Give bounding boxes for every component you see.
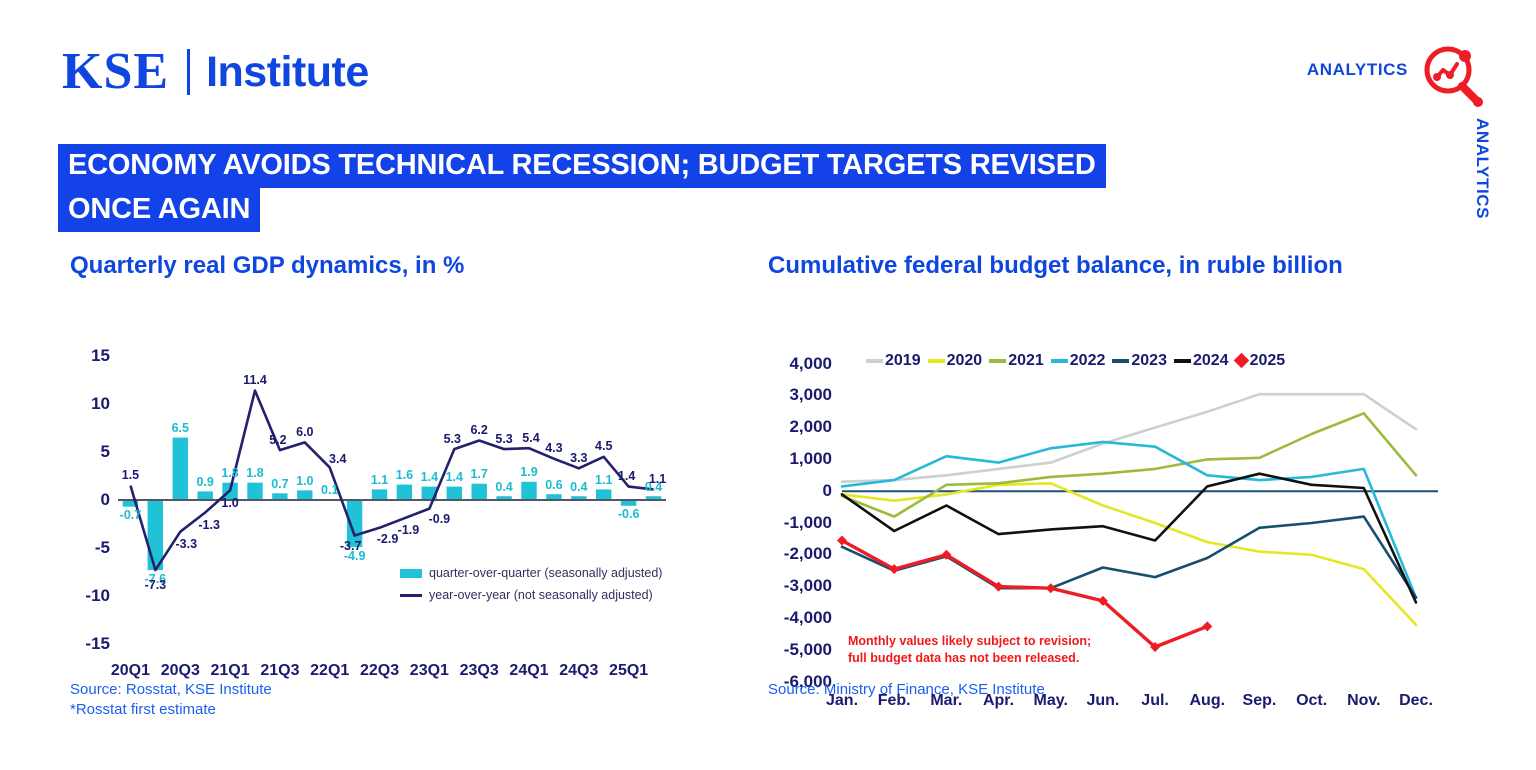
logo-kse-text: KSE: [62, 46, 169, 98]
gdp-yoy-value-label: 4.3: [545, 441, 562, 455]
left-y-tick: -15: [70, 634, 110, 654]
legend-swatch: [400, 594, 422, 597]
left-x-tick: 21Q3: [260, 662, 299, 680]
left-y-tick: 15: [70, 346, 110, 366]
gdp-bar-value-label: 0.7: [271, 477, 288, 491]
legend-swatch: [1051, 359, 1068, 363]
gdp-yoy-value-label: 1.0: [221, 496, 238, 510]
right-x-tick: Nov.: [1347, 692, 1380, 710]
gdp-bar-value-label: 1.1: [595, 473, 612, 487]
legend-item-2024[interactable]: 2024: [1174, 352, 1229, 370]
right-y-tick: -1,000: [768, 513, 832, 533]
left-x-tick: 24Q1: [509, 662, 548, 680]
right-chart-legend: 2019202020212022202320242025: [866, 352, 1292, 370]
gdp-bar-value-label: -0.6: [618, 507, 640, 521]
gdp-bar-value-label: 0.1: [321, 483, 338, 497]
legend-item-2023[interactable]: 2023: [1112, 352, 1167, 370]
legend-diamond-marker: [1233, 353, 1249, 369]
right-x-tick: Jul.: [1141, 692, 1169, 710]
headline-line-1: ECONOMY AVOIDS TECHNICAL RECESSION; BUDG…: [58, 144, 1106, 188]
legend-swatch: [1174, 359, 1191, 363]
gdp-yoy-value-label: -3.3: [175, 537, 197, 551]
right-y-tick: 4,000: [768, 354, 832, 374]
gdp-bar: [198, 491, 213, 500]
legend-swatch: [989, 359, 1006, 363]
right-chart-source: Source: Ministry of Finance, KSE Institu…: [768, 680, 1045, 700]
legend-item-2022[interactable]: 2022: [1051, 352, 1106, 370]
gdp-bar-value-label: 1.0: [296, 474, 313, 488]
budget-line-2019: [842, 394, 1416, 482]
gdp-yoy-value-label: -2.9: [377, 532, 399, 546]
right-y-tick: 1,000: [768, 449, 832, 469]
gdp-yoy-value-label: -1.9: [398, 523, 420, 537]
magnifier-chart-icon: [1416, 44, 1488, 108]
gdp-bar-value-label: 1.8: [246, 466, 263, 480]
gdp-yoy-value-label: 6.0: [296, 425, 313, 439]
gdp-bar: [173, 437, 188, 499]
right-y-tick: -4,000: [768, 608, 832, 628]
gdp-yoy-value-label: 6.2: [470, 423, 487, 437]
right-x-tick: Aug.: [1189, 692, 1225, 710]
left-x-tick: 22Q1: [310, 662, 349, 680]
legend-item-2025[interactable]: 2025: [1236, 352, 1286, 370]
gdp-bar-value-label: 0.4: [570, 480, 587, 494]
legend-swatch: [866, 359, 883, 363]
left-x-tick: 20Q1: [111, 662, 150, 680]
legend-swatch: [1112, 359, 1129, 363]
gdp-bar-value-label: 6.5: [172, 421, 189, 435]
gdp-bar-value-label: 1.6: [396, 468, 413, 482]
gdp-bar-value-label: 1.4: [446, 470, 463, 484]
gdp-bar: [447, 486, 462, 499]
revision-note: Monthly values likely subject to revisio…: [848, 633, 1091, 667]
legend-label: year-over-year (not seasonally adjusted): [429, 588, 653, 602]
right-y-tick: -3,000: [768, 576, 832, 596]
left-legend-item: quarter-over-quarter (seasonally adjuste…: [400, 566, 662, 580]
left-legend-item: year-over-year (not seasonally adjusted): [400, 588, 653, 602]
gdp-bar-value-label: 1.8: [221, 466, 238, 480]
legend-swatch: [928, 359, 945, 363]
gdp-yoy-value-label: -7.3: [145, 578, 167, 592]
right-chart-panel: Cumulative federal budget balance, in ru…: [768, 252, 1468, 694]
left-chart-source: Source: Rosstat, KSE Institute *Rosstat …: [70, 680, 272, 721]
legend-label: quarter-over-quarter (seasonally adjuste…: [429, 566, 662, 580]
gdp-yoy-value-label: -1.3: [198, 518, 220, 532]
gdp-yoy-value-label: -0.9: [429, 512, 451, 526]
gdp-bar: [596, 489, 611, 500]
headline-line-2: ONCE AGAIN: [58, 188, 260, 232]
left-x-tick: 21Q1: [211, 662, 250, 680]
gdp-bar: [472, 483, 487, 499]
gdp-bar: [272, 493, 287, 500]
left-y-tick: -5: [70, 538, 110, 558]
left-chart-panel: Quarterly real GDP dynamics, in % 151050…: [70, 252, 730, 694]
legend-label: 2023: [1131, 352, 1167, 370]
gdp-bar: [521, 481, 536, 499]
gdp-bar: [372, 489, 387, 500]
right-y-tick: -5,000: [768, 640, 832, 660]
right-y-tick: -2,000: [768, 544, 832, 564]
gdp-yoy-value-label: 1.5: [122, 468, 139, 482]
budget-marker-diamond: [1046, 583, 1056, 593]
gdp-bar-value-label: 0.6: [545, 478, 562, 492]
gdp-bar: [247, 482, 262, 499]
left-x-tick: 23Q1: [410, 662, 449, 680]
gdp-bar-value-label: 1.1: [371, 473, 388, 487]
right-y-tick: 0: [768, 481, 832, 501]
left-x-tick: 24Q3: [559, 662, 598, 680]
gdp-bar-value-label: 0.9: [196, 475, 213, 489]
left-y-tick: 10: [70, 394, 110, 414]
legend-item-2021[interactable]: 2021: [989, 352, 1044, 370]
left-x-tick: 22Q3: [360, 662, 399, 680]
legend-item-2019[interactable]: 2019: [866, 352, 921, 370]
gdp-bar: [397, 484, 412, 499]
logo-institute-text: Institute: [206, 51, 369, 94]
right-x-tick: Sep.: [1243, 692, 1277, 710]
gdp-yoy-value-label: 5.3: [495, 432, 512, 446]
legend-label: 2022: [1070, 352, 1106, 370]
gdp-bar-value-label: 0.4: [495, 480, 512, 494]
left-y-tick: 5: [70, 442, 110, 462]
legend-label: 2025: [1250, 352, 1286, 370]
analytics-vertical-label: ANALYTICS: [1472, 118, 1492, 219]
left-chart-title: Quarterly real GDP dynamics, in %: [70, 252, 730, 280]
left-x-tick: 25Q1: [609, 662, 648, 680]
gdp-yoy-value-label: 5.4: [522, 431, 539, 445]
logo-divider: [187, 49, 190, 95]
right-x-tick: Jun.: [1086, 692, 1119, 710]
gdp-yoy-value-label: -3.7: [340, 539, 362, 553]
left-x-tick: 20Q3: [161, 662, 200, 680]
left-y-tick: 0: [70, 490, 110, 510]
gdp-yoy-value-label: 5.2: [269, 433, 286, 447]
right-chart-title: Cumulative federal budget balance, in ru…: [768, 252, 1468, 280]
legend-label: 2021: [1008, 352, 1044, 370]
kse-institute-logo: KSE Institute: [62, 46, 369, 98]
gdp-yoy-value-label: 3.3: [570, 451, 587, 465]
analytics-label: ANALYTICS: [1307, 60, 1408, 80]
gdp-bar-value-label: -0.7: [120, 508, 142, 522]
budget-line-2024: [842, 473, 1416, 602]
gdp-yoy-value-label: 1.1: [649, 472, 666, 486]
legend-label: 2024: [1193, 352, 1229, 370]
legend-label: 2020: [947, 352, 983, 370]
gdp-yoy-value-label: 4.5: [595, 439, 612, 453]
left-x-tick: 23Q3: [460, 662, 499, 680]
gdp-bar: [297, 490, 312, 500]
legend-swatch: [400, 569, 422, 578]
left-y-tick: -10: [70, 586, 110, 606]
budget-chart-plot: 4,0003,0002,0001,0000-1,000-2,000-3,000-…: [768, 294, 1468, 694]
gdp-yoy-value-label: 1.4: [618, 469, 635, 483]
budget-line-2025: [842, 540, 1207, 647]
gdp-yoy-value-label: 5.3: [444, 432, 461, 446]
budget-line-2023: [842, 516, 1416, 597]
gdp-chart-plot: 151050-5-10-1520Q120Q321Q121Q322Q122Q323…: [70, 294, 730, 694]
headline-banner: ECONOMY AVOIDS TECHNICAL RECESSION; BUDG…: [58, 144, 1258, 232]
right-x-tick: Dec.: [1399, 692, 1433, 710]
right-x-tick: Oct.: [1296, 692, 1327, 710]
gdp-bar-value-label: 1.9: [520, 465, 537, 479]
right-y-tick: 3,000: [768, 385, 832, 405]
gdp-bar-value-label: 1.7: [470, 467, 487, 481]
right-y-tick: 2,000: [768, 417, 832, 437]
gdp-yoy-value-label: 11.4: [243, 373, 267, 387]
budget-line-2020: [842, 483, 1416, 625]
budget-marker-diamond: [1202, 621, 1212, 631]
legend-label: 2019: [885, 352, 921, 370]
infographic-page: KSE Institute ANALYTICS ANALYTICS ECONOM…: [0, 0, 1536, 770]
gdp-yoy-value-label: 3.4: [329, 452, 346, 466]
legend-item-2020[interactable]: 2020: [928, 352, 983, 370]
gdp-bar-value-label: 1.4: [421, 470, 438, 484]
